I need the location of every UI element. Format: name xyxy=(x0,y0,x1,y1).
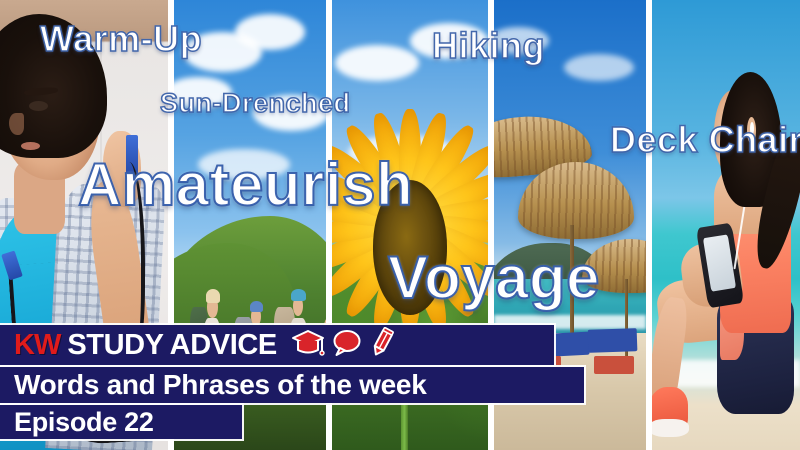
speech-bubble-icon xyxy=(331,328,361,363)
banner-icon-row xyxy=(291,327,397,364)
word-overlay-sun-drenched: Sun-Drenched xyxy=(160,88,351,119)
word-overlay-amateurish: Amateurish xyxy=(78,150,413,219)
episode-label: Episode 22 xyxy=(14,407,154,438)
deck-chair-panel xyxy=(652,0,800,450)
word-overlay-warm-up: Warm-Up xyxy=(40,18,202,60)
video-thumbnail: Warm-Up Sun-Drenched Hiking Deck Chair A… xyxy=(0,0,800,450)
series-title: Words and Phrases of the week xyxy=(14,369,426,401)
word-overlay-hiking: Hiking xyxy=(432,25,545,67)
word-overlay-voyage: Voyage xyxy=(388,243,600,312)
panel-divider xyxy=(646,0,652,450)
word-overlay-deck-chair: Deck Chair xyxy=(610,119,800,161)
graduation-cap-icon xyxy=(291,328,325,363)
episode-bar: Episode 22 xyxy=(0,405,242,439)
panel-artwork xyxy=(652,0,800,450)
series-title-bar: Words and Phrases of the week xyxy=(0,367,584,403)
pencil-icon xyxy=(367,327,397,364)
channel-logo-bar: KW STUDY ADVICE xyxy=(0,325,554,365)
logo-text-study-advice: STUDY ADVICE xyxy=(67,329,277,362)
logo-mark-kw: KW xyxy=(14,329,60,362)
